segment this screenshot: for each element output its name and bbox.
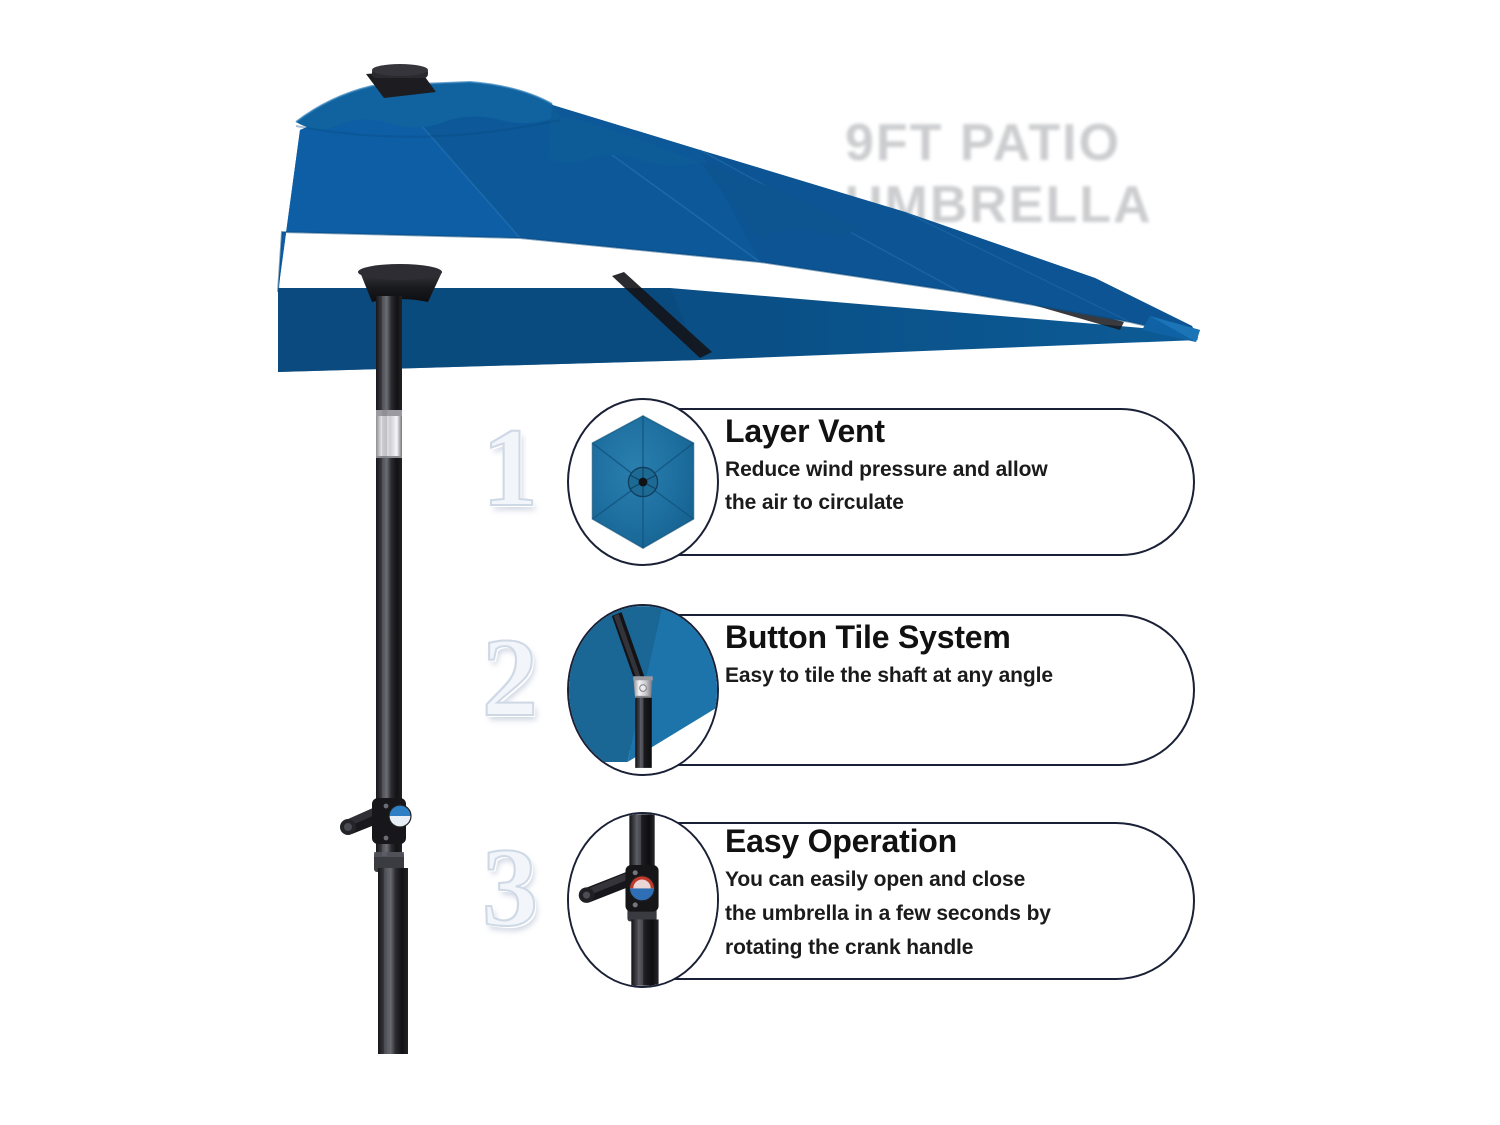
feature-body-1: Reduce wind pressure and allow the air t…	[725, 453, 1195, 519]
feature-body-2: Easy to tile the shaft at any angle	[725, 659, 1195, 692]
feature-title-3: Easy Operation	[725, 822, 1195, 860]
infographic-canvas: 9FT PATIO UMBRELLA	[0, 0, 1500, 1125]
feature-number-2: 2	[455, 622, 565, 734]
feature-title-2: Button Tile System	[725, 618, 1195, 656]
page-title: 9FT PATIO UMBRELLA	[845, 112, 1265, 236]
pole-collar	[358, 264, 442, 302]
canopy-underside	[278, 262, 1198, 372]
umbrella-top-vent-icon	[567, 398, 719, 566]
tilt-button-shaft-icon	[567, 604, 719, 776]
feature-body-3: You can easily open and close the umbrel…	[725, 863, 1195, 965]
feature-title-1: Layer Vent	[725, 412, 1195, 450]
feature-text-2: Button Tile System Easy to tile the shaf…	[725, 618, 1195, 692]
feature-text-1: Layer Vent Reduce wind pressure and allo…	[725, 412, 1195, 519]
feature-text-3: Easy Operation You can easily open and c…	[725, 822, 1195, 965]
crank-handle-icon	[567, 812, 719, 988]
feature-number-1: 1	[455, 412, 565, 524]
feature-number-3: 3	[455, 832, 565, 944]
umbrella-pole	[374, 296, 408, 1054]
canopy-tip	[1142, 316, 1200, 342]
finial-hub	[366, 64, 436, 98]
crank-handle	[340, 798, 411, 844]
vent-flap	[296, 82, 862, 240]
